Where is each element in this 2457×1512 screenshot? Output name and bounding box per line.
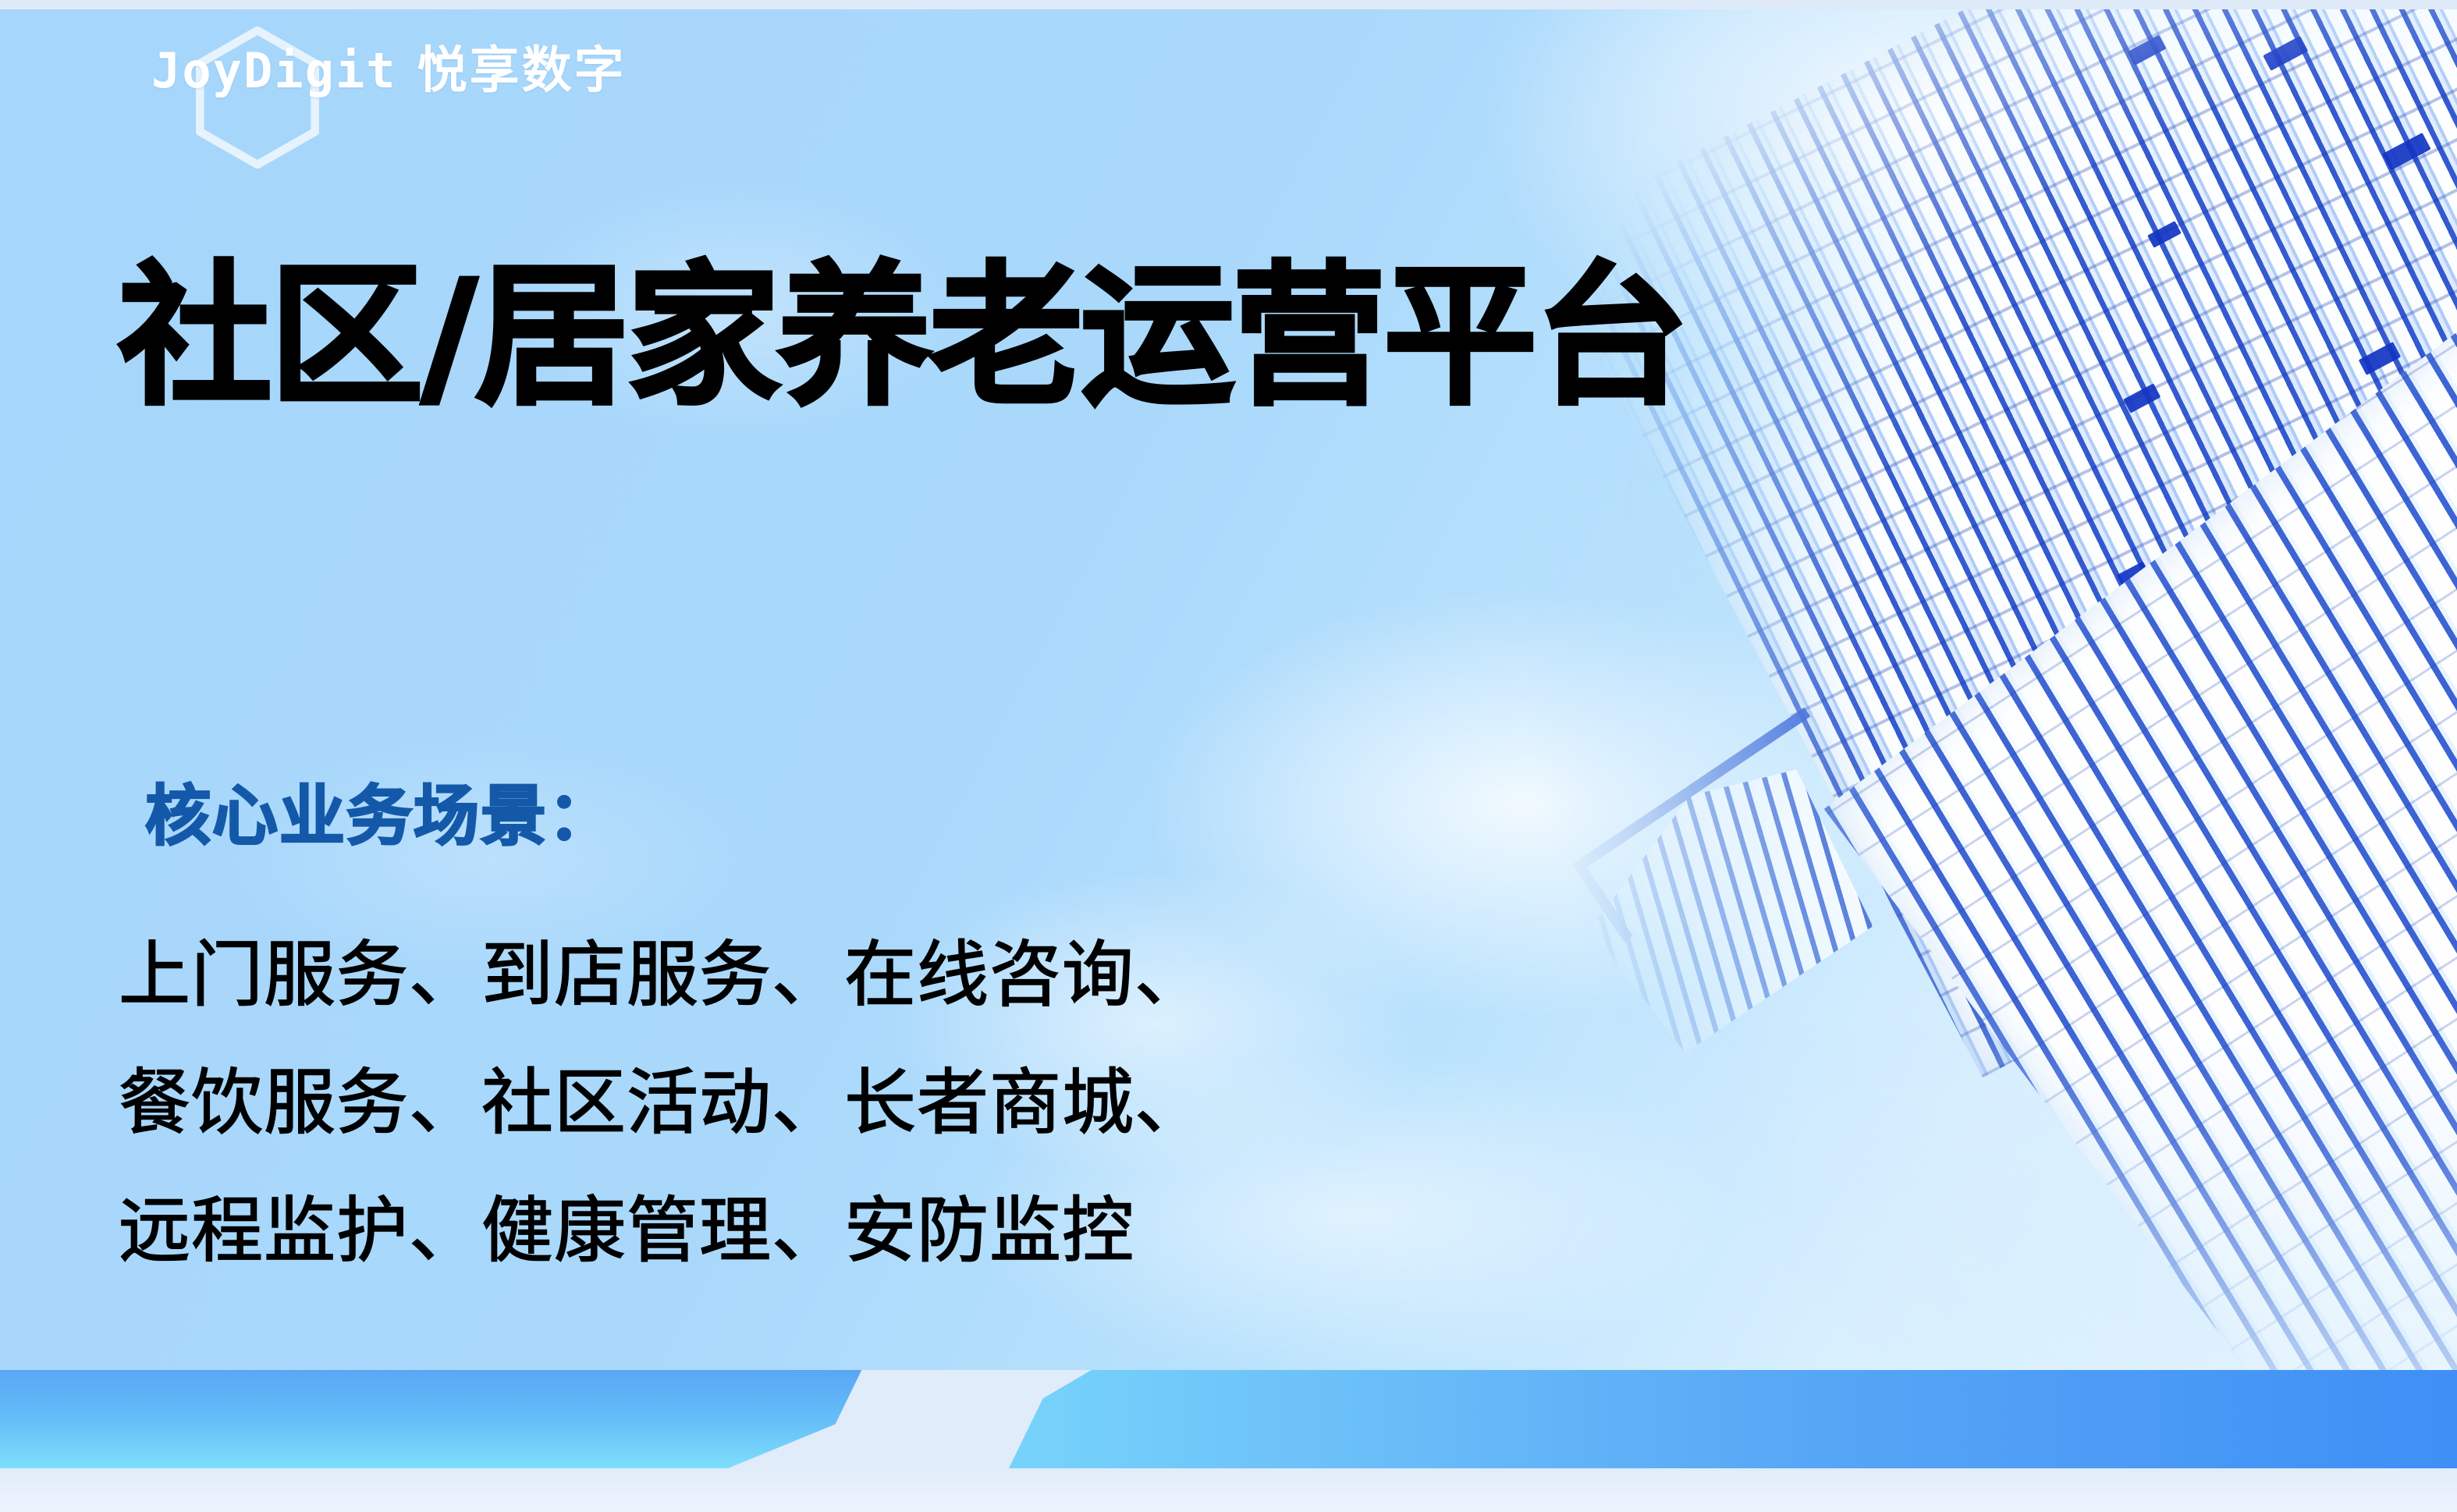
top-edge-strip (0, 0, 2457, 9)
bottom-decoration-band (0, 1370, 2457, 1512)
brand-logo: JoyDigit 悦享数字 (145, 28, 627, 114)
band-base-strip (0, 1468, 2457, 1512)
scenario-line: 上门服务、到店服务、在线咨询、 (119, 911, 1207, 1039)
logo-wordmark-en: JoyDigit (145, 47, 397, 95)
logo-wordmark-cn: 悦享数字 (417, 46, 627, 96)
slide-canvas: JoyDigit 悦享数字 社区/居家养老运营平台 核心业务场景： 上门服务、到… (0, 0, 2457, 1512)
section-heading: 核心业务场景： (145, 780, 615, 852)
page-title: 社区/居家养老运营平台 (119, 257, 1687, 418)
band-shape-right (921, 1370, 2457, 1470)
scenario-line: 餐饮服务、社区活动、长者商城、 (119, 1039, 1207, 1167)
building-photo (1474, 9, 2457, 1379)
scenario-line: 远程监护、健康管理、安防监控 (119, 1167, 1207, 1295)
scenario-list: 上门服务、到店服务、在线咨询、 餐饮服务、社区活动、长者商城、 远程监护、健康管… (119, 911, 1207, 1294)
